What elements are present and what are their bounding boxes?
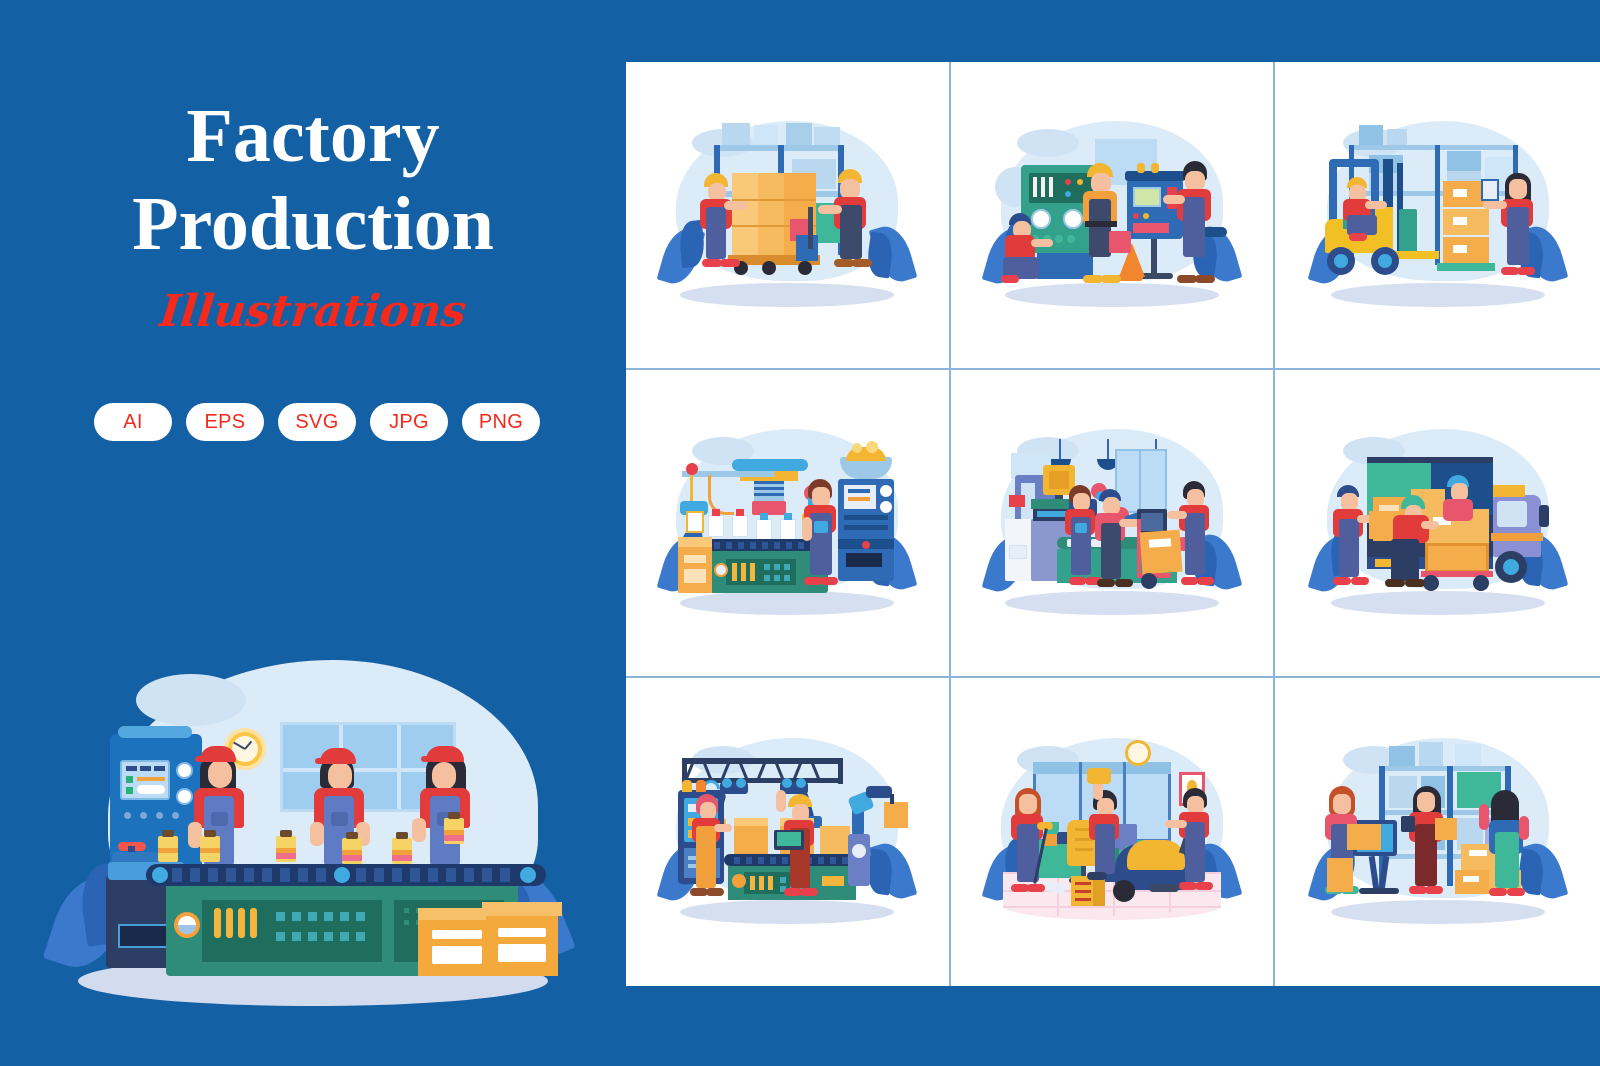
product-jar — [200, 836, 220, 862]
page-title-line-1: Factory — [0, 92, 626, 180]
hero-illustration — [48, 636, 568, 1016]
scene-forklift-inventory-check — [1313, 115, 1563, 315]
hero-cloud-shape — [136, 674, 246, 726]
page-subtitle: Illustrations — [0, 286, 629, 338]
grid-cell-machine-maintenance[interactable] — [951, 62, 1276, 370]
title-block: Factory Production Illustrations — [0, 92, 626, 338]
scene-smart-factory-robotics — [987, 423, 1237, 623]
product-jar — [342, 838, 362, 864]
format-badge-png[interactable]: PNG — [462, 403, 540, 441]
product-jar — [444, 818, 464, 844]
scene-machine-maintenance — [987, 115, 1237, 315]
grid-cell-truck-loading-logistics[interactable] — [1275, 370, 1600, 678]
format-badge-list: AI EPS SVG JPG PNG — [0, 403, 626, 441]
product-jar — [392, 838, 412, 864]
format-badge-eps[interactable]: EPS — [186, 403, 264, 441]
conveyor-belt — [146, 864, 546, 886]
scene-automated-bottling-line — [662, 423, 912, 623]
scene-warehouse-pallet-handling — [662, 115, 912, 315]
scene-industrial-cleaning-crew — [987, 732, 1237, 932]
shipping-box — [418, 908, 496, 976]
format-badge-ai[interactable]: AI — [94, 403, 172, 441]
format-badge-svg[interactable]: SVG — [278, 403, 356, 441]
grid-cell-warehouse-pallet-handling[interactable] — [626, 62, 951, 370]
left-panel: Factory Production Illustrations AI EPS … — [0, 0, 626, 1066]
product-jar — [158, 836, 178, 862]
shipping-box — [486, 902, 558, 976]
format-badge-jpg[interactable]: JPG — [370, 403, 448, 441]
illustration-grid — [626, 62, 1600, 986]
page-title-line-2: Production — [0, 180, 626, 268]
grid-cell-forklift-inventory-check[interactable] — [1275, 62, 1600, 370]
scene-warehouse-stock-management — [1313, 732, 1563, 932]
scene-automated-assembly-crane — [662, 732, 912, 932]
poster-root: Factory Production Illustrations AI EPS … — [0, 0, 1600, 1066]
grid-cell-industrial-cleaning-crew[interactable] — [951, 678, 1276, 986]
grid-cell-automated-assembly-crane[interactable] — [626, 678, 951, 986]
scene-truck-loading-logistics — [1313, 423, 1563, 623]
grid-cell-smart-factory-robotics[interactable] — [951, 370, 1276, 678]
product-jar — [276, 836, 296, 862]
grid-cell-warehouse-stock-management[interactable] — [1275, 678, 1600, 986]
grid-cell-automated-bottling-line[interactable] — [626, 370, 951, 678]
